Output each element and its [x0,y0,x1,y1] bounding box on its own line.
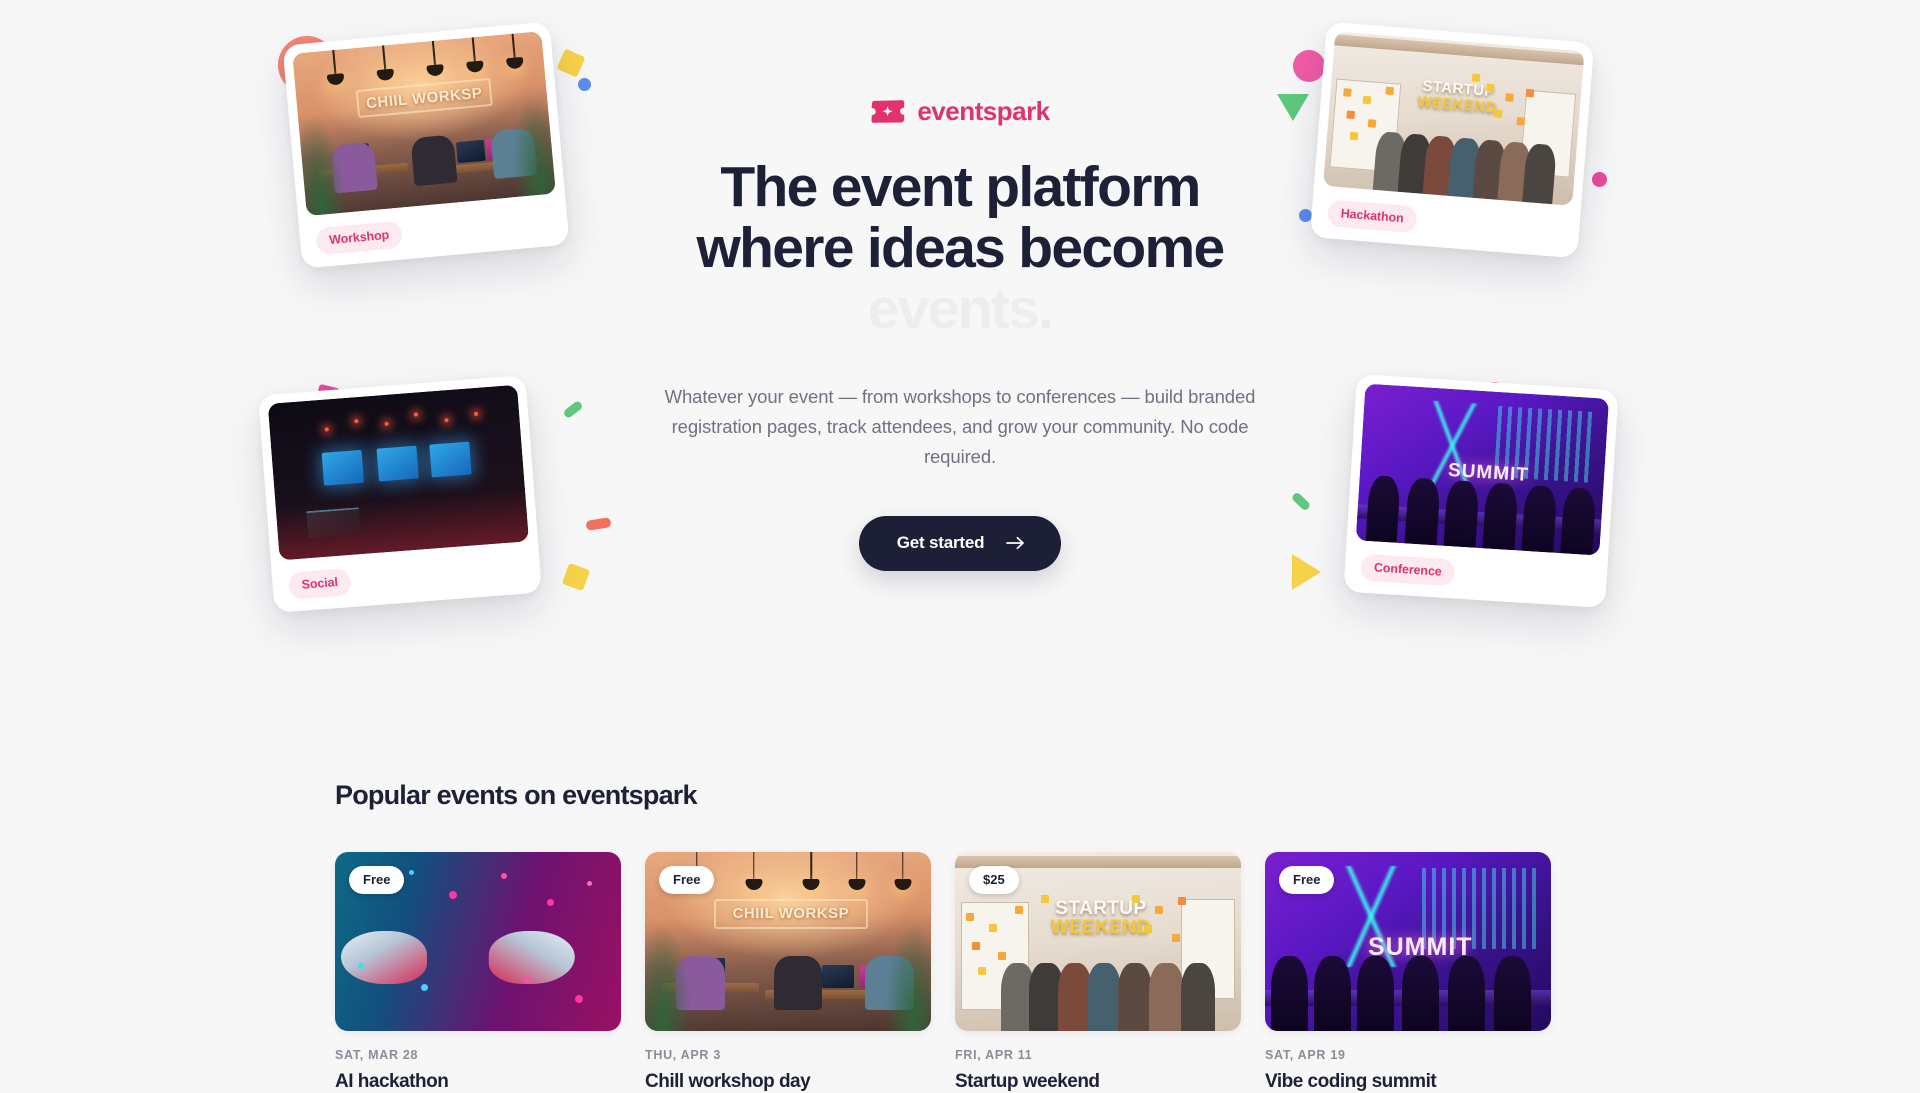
decor-tick-green [562,400,583,419]
event-title: Chill workshop day [645,1071,931,1093]
event-photo: Free CHIIL WORKSP [645,852,931,1031]
event-date: THU, APR 3 [645,1048,931,1062]
floating-card-photo [268,385,529,561]
popular-events-section: Popular events on eventspark Free [0,735,1920,1093]
floating-card-conference[interactable]: SUMMIT Conference [1343,374,1618,608]
headline-line-3: events. [650,279,1270,340]
category-badge: Hackathon [1327,199,1418,233]
floating-card-photo: SUMMIT [1356,384,1609,556]
event-photo: $25 STARTUP WEEKEND [955,852,1241,1031]
ticket-sparkle-icon [870,99,906,124]
event-title: Startup weekend [955,1071,1241,1093]
category-badge: Conference [1360,553,1455,586]
photo-caption: CHIIL WORKSP [714,899,868,929]
event-photo: Free [335,852,621,1031]
hero-content: eventspark The event platform where idea… [650,96,1270,571]
price-badge: Free [349,866,404,894]
get-started-button[interactable]: Get started [859,516,1062,571]
decor-square-yellow [556,48,585,77]
event-title: Vibe coding summit [1265,1071,1551,1093]
decor-triangle-green-2 [1277,94,1309,121]
price-badge: $25 [969,866,1019,894]
event-date: FRI, APR 11 [955,1048,1241,1062]
events-grid: Free [335,852,1585,1093]
hero-section: CHIIL WORKSP Workshop [0,0,1920,735]
category-badge: Workshop [315,220,403,255]
decor-square-yellow-3 [562,563,590,591]
event-title: AI hackathon [335,1071,621,1093]
event-date: SAT, MAR 28 [335,1048,621,1062]
category-badge: Social [288,568,352,600]
floating-card-workshop[interactable]: CHIIL WORKSP Workshop [282,21,569,268]
headline-line-2: where ideas become [650,218,1270,279]
event-date: SAT, APR 19 [1265,1048,1551,1062]
event-card[interactable]: Free CHIIL WORKSP [645,852,931,1093]
floating-card-photo: STARTUP WEEKEND [1323,31,1585,206]
decor-dot-magenta [1592,172,1607,187]
decor-bar-coral [585,517,611,531]
decor-dot-blue [578,78,591,91]
arrow-right-icon [1006,536,1025,550]
brand-logo[interactable]: eventspark [650,96,1270,127]
floating-card-photo: CHIIL WORKSP [292,31,556,216]
headline-line-1: The event platform [650,157,1270,218]
photo-caption: CHIIL WORKSP [356,78,493,118]
price-badge: Free [1279,866,1334,894]
event-photo: Free SUMMIT [1265,852,1551,1031]
event-card[interactable]: Free [335,852,621,1093]
page-title: The event platform where ideas become ev… [650,157,1270,340]
price-badge: Free [659,866,714,894]
event-card[interactable]: Free SUMMIT SAT, APR 19 [1265,852,1551,1093]
section-title: Popular events on eventspark [335,735,1585,811]
floating-card-hackathon[interactable]: STARTUP WEEKEND [1310,22,1594,259]
event-card[interactable]: $25 STARTUP WEEKEND [955,852,1241,1093]
hero-subtitle: Whatever your event — from workshops to … [650,382,1270,472]
get-started-label: Get started [897,533,985,553]
decor-circle-pink [1293,50,1325,82]
decor-tick-green-2 [1291,491,1312,511]
brand-name: eventspark [917,96,1049,127]
decor-triangle-yellow [1292,554,1321,590]
floating-card-social[interactable]: Social [258,375,542,613]
